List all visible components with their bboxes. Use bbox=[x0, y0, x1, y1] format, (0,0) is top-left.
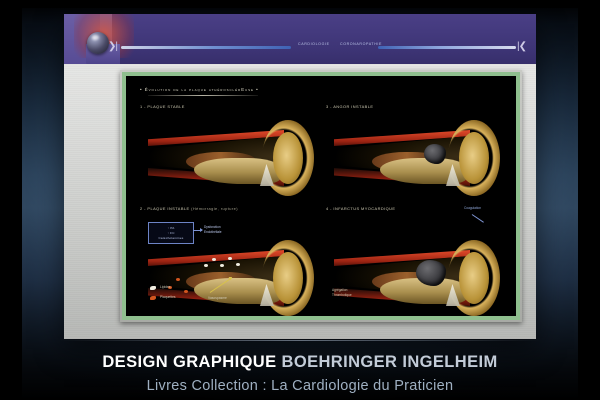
annotation-agregation: Agrégation Thrombotique bbox=[332, 288, 352, 297]
key-label-vasospasme: Vasospasme bbox=[208, 296, 227, 300]
artery-illustration-1 bbox=[142, 114, 316, 200]
thrombus-mass bbox=[416, 260, 446, 286]
screen-bezel: • Évolution de la plaque athérosclérEuse… bbox=[120, 70, 522, 322]
key-swatch-lipides bbox=[150, 286, 156, 290]
legend-arrow-icon bbox=[193, 230, 202, 231]
page-title-rule bbox=[148, 95, 258, 96]
lipid-particle bbox=[204, 264, 208, 267]
app-chrome: ❯| CARDIOLOGIE CORONAROPATHIE |❮ bbox=[64, 14, 536, 64]
lipid-particle bbox=[236, 263, 240, 266]
panel-label: 1 - PLAQUE STABLE bbox=[140, 104, 185, 109]
caption-title-client: BOEHRINGER INGELHEIM bbox=[282, 353, 498, 371]
panel-plaque-stable[interactable]: 1 - PLAQUE STABLE bbox=[136, 104, 322, 204]
nav-handle-left-icon[interactable]: ❯| bbox=[108, 42, 117, 52]
nav-label-coronaropathie[interactable]: CORONAROPATHIE bbox=[340, 42, 382, 46]
key-swatch-plaquettes bbox=[150, 296, 156, 300]
nav-track-right[interactable] bbox=[378, 46, 516, 49]
illustration-canvas: • Évolution de la plaque athérosclérEuse… bbox=[126, 76, 516, 316]
screen-bezel-inner: • Évolution de la plaque athérosclérEuse… bbox=[122, 72, 520, 320]
orb-highlight bbox=[92, 35, 99, 40]
artery-ring-core bbox=[273, 252, 303, 304]
caption-title-strong: DESIGN GRAPHIQUE bbox=[102, 353, 276, 371]
caption-divider bbox=[60, 340, 540, 341]
legend-line-pa: ↑ PA bbox=[149, 226, 193, 230]
lipid-particle bbox=[212, 258, 216, 261]
caption-block: DESIGN GRAPHIQUE BOEHRINGER INGELHEIM Li… bbox=[0, 344, 600, 394]
artery-illustration-4 bbox=[328, 234, 502, 316]
artery-ring-core bbox=[273, 132, 303, 184]
panel-label: 3 - ANGOR INSTABLE bbox=[326, 104, 373, 109]
panel-angor-instable[interactable]: 3 - ANGOR INSTABLE bbox=[322, 104, 508, 204]
panel-label: 2 - PLAQUE INSTABLE (Hémorragie, rupture… bbox=[140, 206, 238, 211]
artery-illustration-2 bbox=[328, 114, 502, 200]
lipid-particle bbox=[228, 257, 232, 260]
annotation-agregation-line2: Thrombotique bbox=[332, 293, 352, 298]
platelet-particle bbox=[176, 278, 180, 281]
panel-label-main: 2 - PLAQUE INSTABLE bbox=[140, 206, 190, 211]
key-label-plaquettes: Plaquettes bbox=[160, 295, 176, 299]
top-letterbox bbox=[0, 0, 600, 8]
poster-stage: ❯| CARDIOLOGIE CORONAROPATHIE |❮ • Évolu… bbox=[0, 0, 600, 400]
lipid-particle bbox=[220, 264, 224, 267]
artery-ring-core bbox=[459, 252, 489, 304]
coagulation-arrow-icon bbox=[472, 214, 484, 223]
key-label-lipides: Lipides bbox=[160, 285, 170, 289]
panel-plaque-instable[interactable]: 2 - PLAQUE INSTABLE (Hémorragie, rupture… bbox=[136, 206, 322, 306]
panel-label: 4 - INFARCTUS MYOCARDIQUE bbox=[326, 206, 395, 211]
panel-infarctus-myocardique[interactable]: 4 - INFARCTUS MYOCARDIQUE Coagulation bbox=[322, 206, 508, 306]
left-letterbox bbox=[0, 0, 22, 400]
nav-slider-bar[interactable]: ❯| CARDIOLOGIE CORONAROPATHIE |❮ bbox=[108, 41, 526, 53]
right-letterbox bbox=[578, 0, 600, 400]
nav-label-cardiologie[interactable]: CARDIOLOGIE bbox=[298, 42, 330, 46]
page-title: • Évolution de la plaque athérosclérEuse… bbox=[140, 87, 259, 92]
caption-title: DESIGN GRAPHIQUE BOEHRINGER INGELHEIM bbox=[0, 353, 600, 372]
caption-subtitle: Livres Collection : La Cardiologie du Pr… bbox=[0, 378, 600, 394]
screenshot-plate: ❯| CARDIOLOGIE CORONAROPATHIE |❮ • Évolu… bbox=[64, 14, 536, 339]
annotation-coagulation: Coagulation bbox=[464, 206, 481, 211]
thrombus-mass bbox=[424, 144, 446, 164]
nav-handle-right-icon[interactable]: |❮ bbox=[517, 42, 526, 52]
platelet-particle bbox=[184, 290, 188, 293]
artery-ring-core bbox=[459, 132, 489, 184]
panel-label-sub: (Hémorragie, rupture) bbox=[191, 206, 238, 211]
nav-track-left[interactable] bbox=[121, 46, 291, 49]
